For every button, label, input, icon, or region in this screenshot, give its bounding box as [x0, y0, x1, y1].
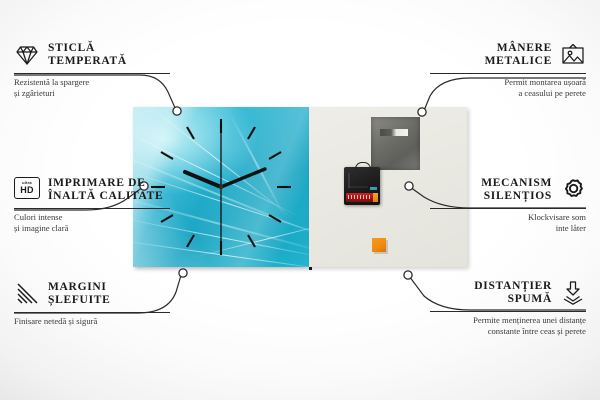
stacked-down-arrow-icon [560, 280, 586, 306]
ultra-hd-badge-icon: ultra HD [14, 177, 40, 203]
diamond-icon [14, 42, 40, 68]
battery-positive-tip [373, 193, 378, 202]
callout-title: DISTANȚIER SPUMĂ [474, 280, 552, 306]
mechanism-hanger-loop [355, 162, 371, 170]
product-image-group [133, 107, 467, 267]
callout-title: MECANISM SILENȚIOS [481, 177, 552, 203]
hanger-slot [380, 129, 408, 136]
polished-edges-icon [14, 281, 40, 307]
callout-high-quality-print: ultra HD IMPRIMARE DE ÎNALTĂ CALITATE Cu… [14, 177, 170, 233]
callout-rule [14, 208, 170, 209]
callout-tempered-glass: STICLĂ TEMPERATĂ Rezistentă la spargere … [14, 42, 170, 98]
callout-desc: Rezistentă la spargere și zgârieturi [14, 77, 170, 98]
callout-title: MARGINI ȘLEFUITE [48, 281, 110, 307]
product-infographic: STICLĂ TEMPERATĂ Rezistentă la spargere … [0, 0, 600, 400]
callout-title: MÂNERE METALICE [485, 42, 552, 68]
callout-desc: Permit montarea ușoară a ceasului pe per… [430, 77, 586, 98]
mechanism-label-strip [370, 187, 377, 190]
mechanism-embossing [348, 173, 368, 188]
callout-rule [430, 311, 586, 312]
callout-desc: Culori intense și imagine clară [14, 212, 170, 233]
callout-rule [430, 73, 586, 74]
callout-title: STICLĂ TEMPERATĂ [48, 42, 127, 68]
callout-title: IMPRIMARE DE ÎNALTĂ CALITATE [48, 177, 163, 203]
callout-rule [14, 312, 170, 313]
callout-metal-handles: MÂNERE METALICE Permit montarea ușoară a… [430, 42, 586, 98]
foam-spacer-pad [372, 238, 386, 252]
callout-rule [430, 208, 586, 209]
callout-polished-edges: MARGINI ȘLEFUITE Finisare netedă și sigu… [14, 281, 170, 327]
callout-desc: Permite menținerea unei distanțe constan… [430, 315, 586, 336]
callout-silent-mechanism: MECANISM SILENȚIOS Klockvisare som inte … [430, 177, 586, 233]
gear-icon [560, 177, 586, 203]
picture-frame-hanger-icon [560, 42, 586, 68]
metal-hanger-plate [371, 117, 420, 170]
callout-foam-spacer: DISTANȚIER SPUMĂ Permite menținerea unei… [430, 280, 586, 336]
aa-battery [346, 193, 378, 202]
callout-rule [14, 73, 170, 74]
connector-dot-foam-spacer [404, 271, 412, 279]
callout-desc: Finisare netedă și sigură [14, 316, 170, 327]
callout-desc: Klockvisare som inte låter [430, 212, 586, 233]
connector-dot-polished-edges [179, 269, 187, 277]
quartz-mechanism [344, 167, 380, 205]
battery-label [348, 195, 372, 199]
